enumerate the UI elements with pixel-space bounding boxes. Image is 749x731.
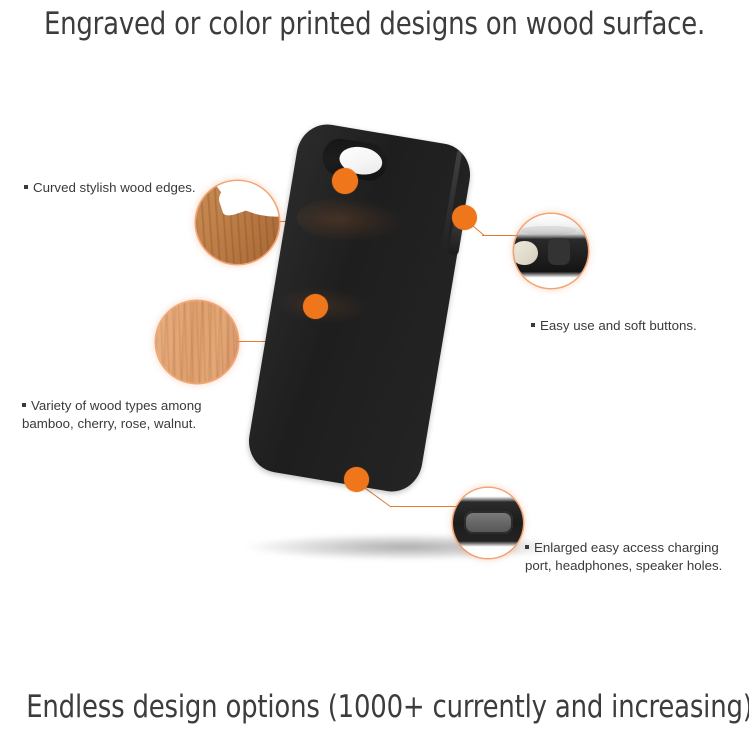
hotspot-bottom-port[interactable] — [344, 467, 369, 492]
connector-line-port — [391, 506, 459, 507]
callout-soft-buttons-text: Easy use and soft buttons. — [540, 318, 697, 333]
wood-grain-knot — [295, 195, 404, 245]
hotspot-wood-surface[interactable] — [303, 294, 328, 319]
headline-bottom: Endless design options (1000+ currently … — [26, 687, 723, 727]
magnified-soft-button — [514, 241, 538, 265]
callout-charging-port: Enlarged easy access charging port, head… — [525, 521, 722, 575]
callout-charging-port-text: Enlarged easy access charging port, head… — [525, 540, 722, 573]
infographic-canvas: Engraved or color printed designs on woo… — [0, 0, 749, 731]
magnified-button-recess — [548, 238, 570, 265]
magnifier-side-button — [514, 214, 588, 288]
callout-bullet-icon — [531, 323, 535, 327]
wooden-phone-case — [244, 120, 475, 496]
headline-top: Engraved or color printed designs on woo… — [26, 4, 723, 44]
magnified-wood-grain-content — [156, 301, 238, 383]
callout-bullet-icon — [24, 185, 28, 189]
magnifier-curved-edge-content — [196, 181, 279, 264]
magnified-edge-sheen — [521, 226, 576, 235]
hotspot-side-button[interactable] — [452, 205, 477, 230]
magnifier-charging-port — [453, 488, 523, 558]
connector-line-soft-buttons — [482, 235, 518, 236]
callout-soft-buttons: Easy use and soft buttons. — [531, 299, 697, 335]
magnifier-curved-wood-edge — [196, 181, 279, 264]
callout-curved-edges-text: Curved stylish wood edges. — [33, 180, 196, 195]
callout-curved-edges: Curved stylish wood edges. — [24, 161, 196, 197]
callout-wood-variety-text: Variety of wood types among bamboo, cher… — [22, 398, 202, 431]
magnifier-wood-grain — [156, 301, 238, 383]
hotspot-camera-edge[interactable] — [332, 168, 358, 194]
callout-bullet-icon — [525, 545, 529, 549]
magnified-port-opening — [464, 511, 513, 534]
callout-bullet-icon — [22, 403, 26, 407]
callout-wood-variety: Variety of wood types among bamboo, cher… — [22, 379, 202, 433]
